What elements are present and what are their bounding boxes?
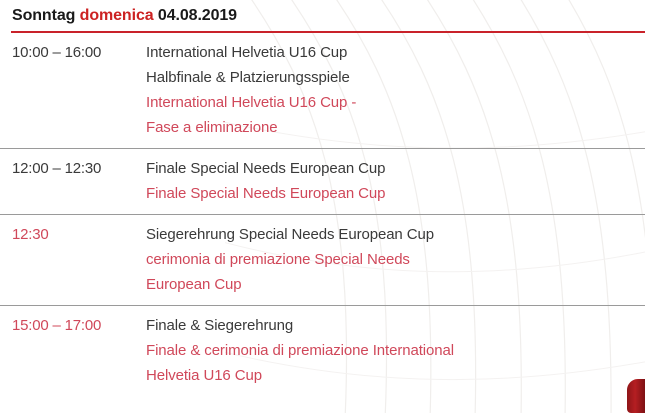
schedule-row[interactable]: 12:00 – 12:30 Finale Special Needs Europ…	[0, 149, 645, 215]
schedule-row[interactable]: 12:30 Siegerehrung Special Needs Europea…	[0, 215, 645, 306]
event-titles: Finale & Siegerehrung Finale & cerimonia…	[146, 313, 645, 388]
event-title-it-line: Finale Special Needs European Cup	[146, 181, 637, 206]
event-titles: Siegerehrung Special Needs European Cup …	[146, 222, 645, 297]
event-title-it-line: European Cup	[146, 272, 637, 297]
event-titles: Finale Special Needs European Cup Finale…	[146, 156, 645, 206]
event-title-de-line: Siegerehrung Special Needs European Cup	[146, 222, 637, 247]
event-title-de-line: Finale & Siegerehrung	[146, 313, 637, 338]
event-time: 12:30	[0, 222, 146, 247]
event-time: 12:00 – 12:30	[0, 156, 146, 181]
event-time: 15:00 – 17:00	[0, 313, 146, 338]
event-title-it-line: Fase a eliminazione	[146, 115, 637, 140]
event-title-de-line: Halbfinale & Platzierungsspiele	[146, 65, 637, 90]
date-label: 04.08.2019	[158, 7, 237, 24]
weekday-label-it: domenica	[80, 7, 154, 24]
event-titles: International Helvetia U16 Cup Halbfinal…	[146, 40, 645, 140]
event-title-it-line: cerimonia di premiazione Special Needs	[146, 247, 637, 272]
event-title-de-line: International Helvetia U16 Cup	[146, 40, 637, 65]
event-time: 10:00 – 16:00	[0, 40, 146, 65]
weekday-label-de: Sonntag	[12, 7, 75, 24]
event-title-it-line: Finale & cerimonia di premiazione Intern…	[146, 338, 637, 363]
day-schedule-page: Sonntag domenica 04.08.2019 10:00 – 16:0…	[0, 0, 645, 413]
schedule-row[interactable]: 15:00 – 17:00 Finale & Siegerehrung Fina…	[0, 306, 645, 396]
event-title-it-line: International Helvetia U16 Cup -	[146, 90, 637, 115]
red-corner-tab	[627, 379, 645, 413]
schedule-list: 10:00 – 16:00 International Helvetia U16…	[0, 33, 645, 396]
event-title-de-line: Finale Special Needs European Cup	[146, 156, 637, 181]
day-header: Sonntag domenica 04.08.2019	[0, 0, 645, 26]
schedule-row[interactable]: 10:00 – 16:00 International Helvetia U16…	[0, 33, 645, 149]
event-title-it-line: Helvetia U16 Cup	[146, 363, 637, 388]
